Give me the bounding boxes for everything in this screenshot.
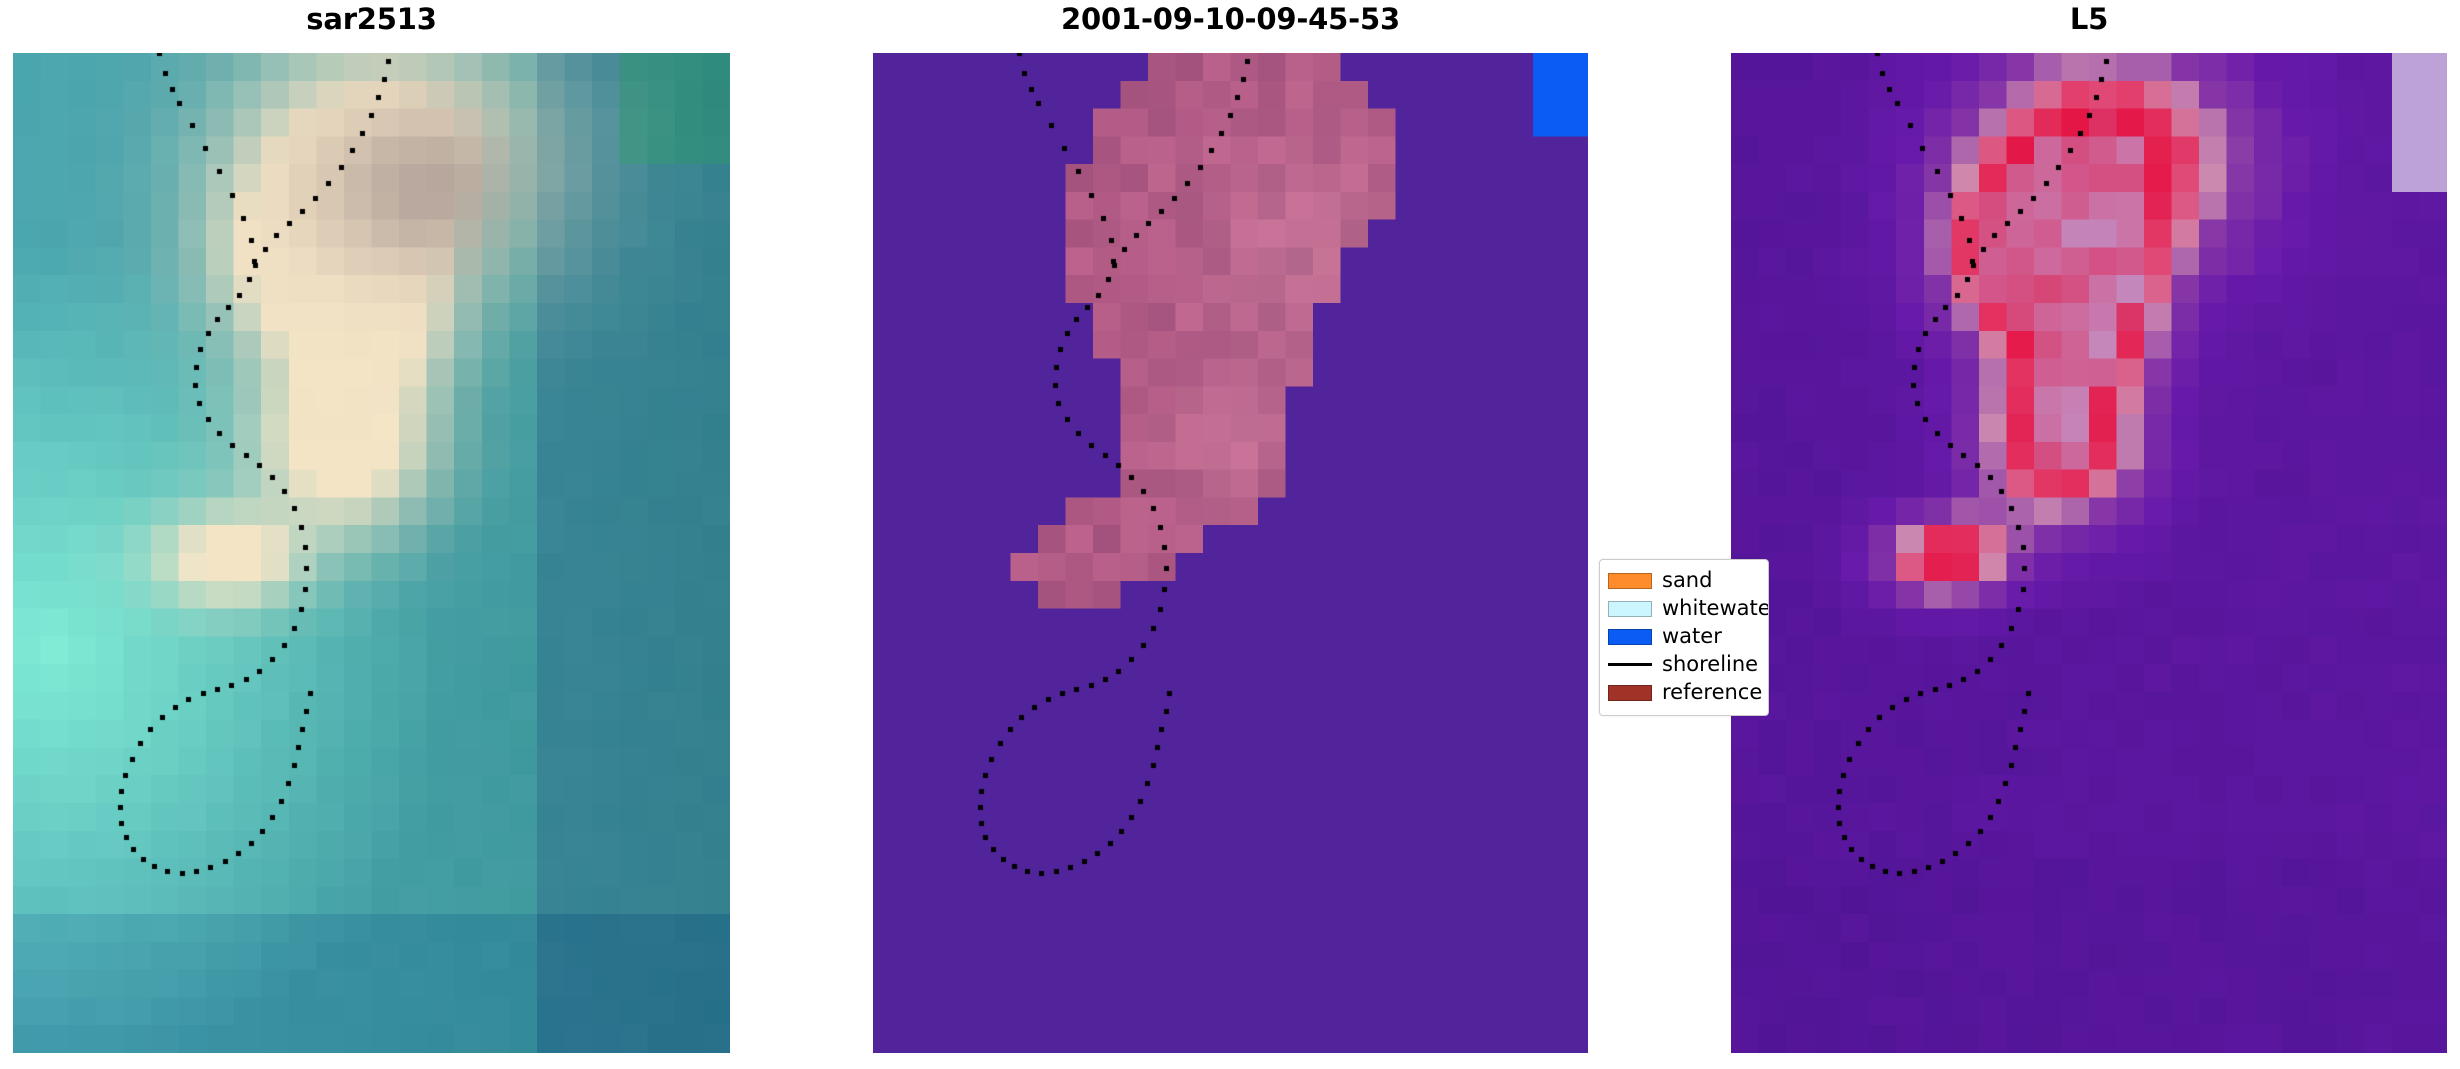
legend-label-reference: reference	[1662, 679, 1762, 705]
reference-color-swatch	[1608, 685, 1652, 701]
legend-item-sand: sand	[1600, 566, 1768, 594]
panel-title-sar2513: sar2513	[13, 2, 730, 36]
sand-color-swatch	[1608, 573, 1652, 589]
shoreline-line-sample	[1608, 663, 1652, 666]
panel-l5: L5	[1731, 0, 2447, 1053]
legend-item-shoreline: shoreline	[1600, 650, 1768, 678]
legend-label-water: water	[1662, 623, 1722, 649]
panel-classified: 2001-09-10-09-45-53	[873, 0, 1588, 1053]
legend-label-shoreline: shoreline	[1662, 651, 1758, 677]
legend-label-whitewater: whitewater	[1662, 595, 1769, 621]
whitewater-color-swatch	[1608, 601, 1652, 617]
classified-image	[873, 53, 1588, 1053]
panel-title-classified: 2001-09-10-09-45-53	[873, 2, 1588, 36]
sar2513-image	[13, 53, 730, 1053]
water-color-swatch	[1608, 629, 1652, 645]
legend-item-whitewater: whitewater	[1600, 594, 1768, 622]
legend: sand whitewater water shoreline referenc…	[1599, 559, 1769, 716]
figure-root: sar2513 2001-09-10-09-45-53 L5 sand whit…	[0, 0, 2460, 1069]
legend-label-sand: sand	[1662, 567, 1712, 593]
panel-sar2513: sar2513	[13, 0, 730, 1053]
legend-item-water: water	[1600, 622, 1768, 650]
legend-item-reference: reference	[1600, 678, 1768, 706]
panel-title-l5: L5	[1731, 2, 2447, 36]
l5-image	[1731, 53, 2447, 1053]
